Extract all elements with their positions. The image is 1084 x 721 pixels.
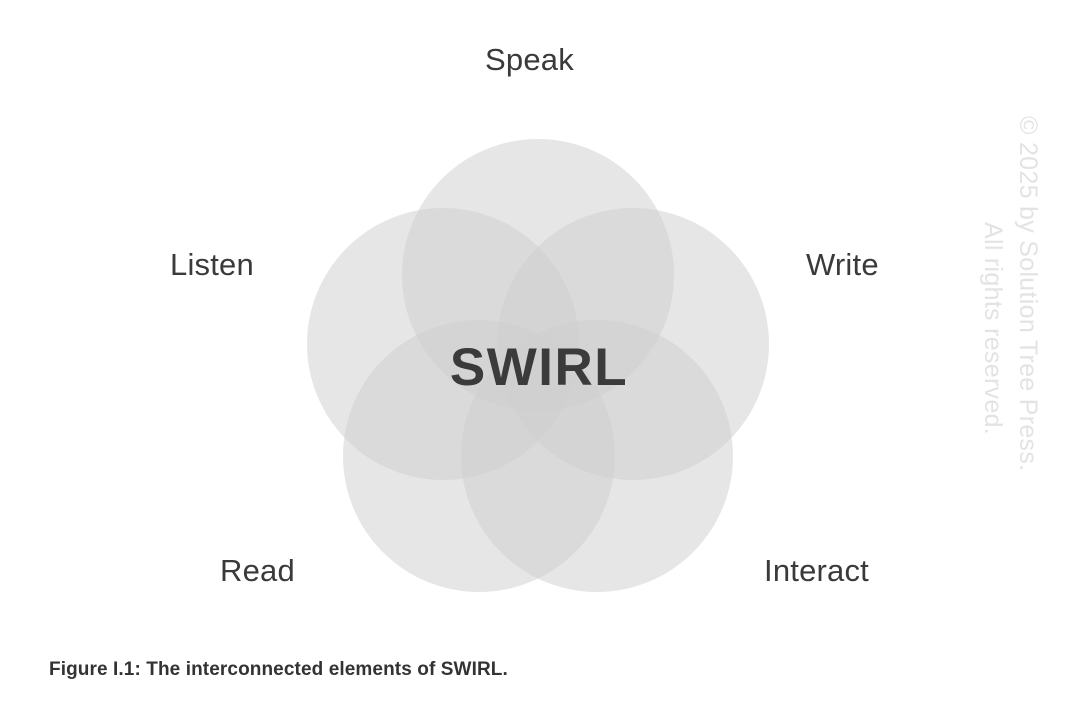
copyright-line-publisher: © 2025 by Solution Tree Press.	[1015, 116, 1040, 471]
petal-label-write: Write	[806, 249, 879, 280]
figure-container: Speak Listen Write Read Interact SWIRL F…	[0, 0, 1084, 721]
petal-label-speak: Speak	[485, 44, 574, 75]
petal-label-interact: Interact	[764, 555, 869, 586]
figure-caption: Figure I.1: The interconnected elements …	[49, 659, 508, 681]
petal-label-read: Read	[220, 555, 295, 586]
copyright-line-rights: All rights reserved.	[980, 222, 1005, 435]
petal-label-listen: Listen	[170, 249, 254, 280]
center-label-swirl: SWIRL	[0, 341, 1078, 394]
